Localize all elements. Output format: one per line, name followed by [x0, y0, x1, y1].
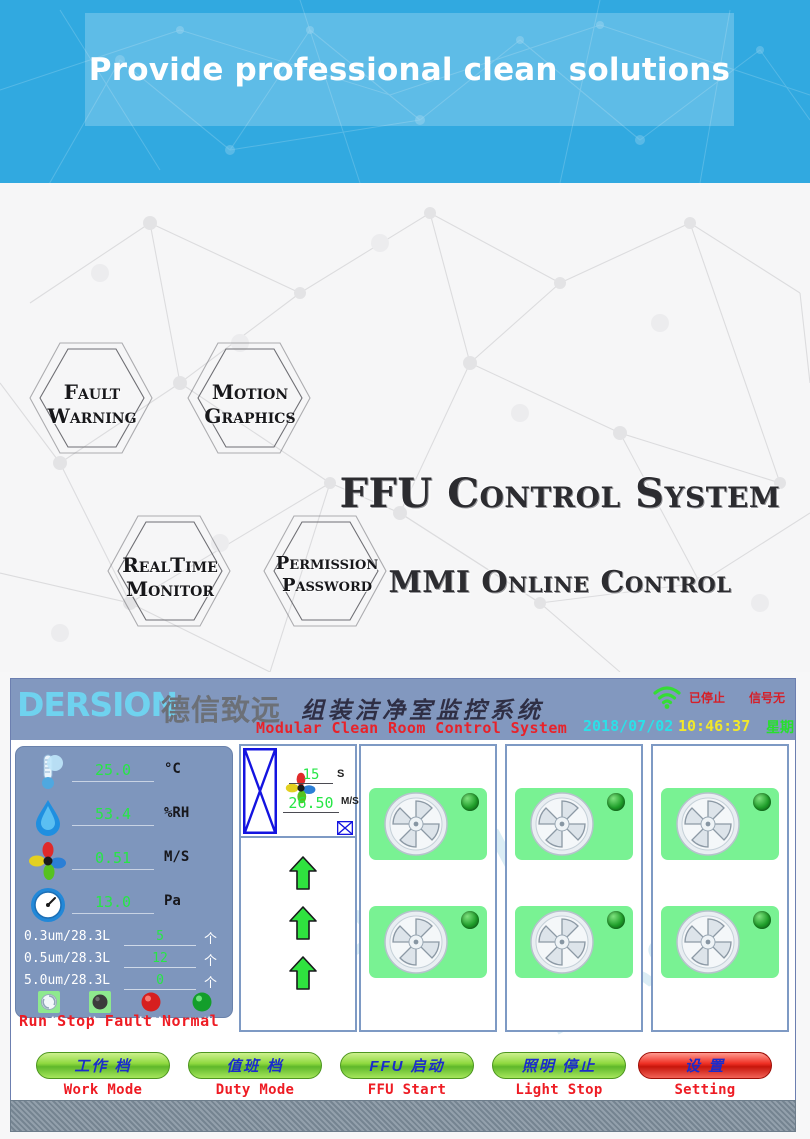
wifi-icon [651, 684, 683, 710]
airflow-up-arrow-icon-2 [289, 906, 317, 940]
ffu-grid [359, 744, 789, 1032]
ffu-column-2 [505, 744, 643, 1032]
particle-value-50um: 0 [124, 973, 196, 990]
airspeed-unit: M/S [164, 849, 224, 865]
setting-label-cn: 设 置 [638, 1052, 772, 1079]
ffu-status-led-5 [607, 911, 625, 929]
ffu-impeller-icon [527, 789, 597, 859]
ffu-unit-3[interactable] [661, 788, 779, 860]
airflow-up-arrow-icon-3 [289, 956, 317, 990]
sensor-row-airspeed: 0.51 M/S [24, 839, 226, 883]
duty-mode-label-en: Duty Mode [181, 1082, 329, 1098]
ffu-unit-4[interactable] [369, 906, 487, 978]
promo-banner: Provide professional clean solutions [0, 0, 810, 183]
banner-headline: Provide professional clean solutions [85, 13, 734, 126]
sensor-row-temperature: 25.0 °C [24, 751, 226, 795]
ffu-start-label-en: FFU Start [333, 1082, 481, 1098]
ffu-impeller-icon [381, 907, 451, 977]
temperature-value: 25.0 [72, 761, 154, 782]
ffu-column-3 [651, 744, 789, 1032]
particle-label-50um: 5.0um/28.3L [24, 973, 110, 988]
hero-section: FFU Control System MMI Online Control Fa… [0, 183, 810, 672]
particle-unit-50um: 个 [204, 972, 217, 991]
ffu-impeller-icon [381, 789, 451, 859]
ffu-impeller-icon [673, 907, 743, 977]
signal-status: 信号无 [749, 689, 785, 706]
hmi-bottom-bezel [10, 1100, 796, 1132]
duty-mode-button[interactable]: 值班 档 Duty Mode [181, 1052, 329, 1098]
duct-top-section: 15 S 26.50 M/S [241, 746, 355, 838]
ffu-unit-2[interactable] [515, 788, 633, 860]
work-mode-button[interactable]: 工作 档 Work Mode [29, 1052, 177, 1098]
pressure-unit: Pa [164, 893, 224, 909]
ffu-status-led-6 [753, 911, 771, 929]
sensor-row-pressure: 13.0 Pa [24, 883, 226, 927]
duct-timer-unit: S [337, 768, 344, 780]
particle-value-03um: 5 [124, 929, 196, 946]
hmi-title-en: Modular Clean Room Control System [256, 719, 567, 737]
ffu-start-button[interactable]: FFU 启动 FFU Start [333, 1052, 481, 1098]
particle-label-05um: 0.5um/28.3L [24, 951, 110, 966]
connection-status: 已停止 [689, 689, 725, 706]
ffu-status-led-2 [607, 793, 625, 811]
status-legend-english: Run Stop Fault Normal [19, 1012, 219, 1030]
x-damper-icon [337, 821, 353, 835]
ffu-impeller-icon [673, 789, 743, 859]
ffu-status-led-3 [753, 793, 771, 811]
fan-propeller-icon [28, 841, 68, 881]
particle-row-05um: 0.5um/28.3L 12 个 [24, 949, 228, 970]
hmi-screen: DERSION 德信致远 组装洁净室监控系统 Modular Clean Roo… [10, 678, 796, 1113]
humidity-unit: %RH [164, 805, 224, 821]
duct-timer-value: 15 [289, 767, 333, 784]
time-display: 10:46:37 [678, 717, 750, 735]
ffu-status-led-1 [461, 793, 479, 811]
humidity-value: 53.4 [72, 805, 154, 826]
setting-label-en: Setting [631, 1082, 779, 1098]
temperature-unit: °C [164, 761, 224, 777]
particle-unit-03um: 个 [204, 928, 217, 947]
ffu-start-label-cn: FFU 启动 [340, 1052, 474, 1079]
particle-value-05um: 12 [124, 951, 196, 968]
particle-unit-05um: 个 [204, 950, 217, 969]
particle-row-50um: 5.0um/28.3L 0 个 [24, 971, 228, 992]
work-mode-label-cn: 工作 档 [36, 1052, 170, 1079]
light-stop-label-en: Light Stop [485, 1082, 633, 1098]
hmi-header: DERSION 德信致远 组装洁净室监控系统 Modular Clean Roo… [11, 679, 795, 740]
ffu-unit-1[interactable] [369, 788, 487, 860]
duct-speed-unit: M/S [341, 796, 359, 807]
sensor-panel: 25.0 °C 53.4 %RH 0.51 [15, 746, 233, 1018]
dersion-logo-en: DERSION [17, 685, 177, 724]
duct-speed-value: 26.50 [283, 794, 339, 813]
light-stop-button[interactable]: 照明 停止 Light Stop [485, 1052, 633, 1098]
run-fan-icon [38, 991, 60, 1013]
light-stop-label-cn: 照明 停止 [492, 1052, 626, 1079]
particle-label-03um: 0.3um/28.3L [24, 929, 110, 944]
pressure-gauge-icon [28, 885, 68, 925]
airflow-up-arrow-icon [289, 856, 317, 890]
fault-led-icon [140, 991, 162, 1013]
weekday-display: 星期一 [766, 717, 795, 740]
ffu-unit-5[interactable] [515, 906, 633, 978]
duty-mode-label-cn: 值班 档 [188, 1052, 322, 1079]
pressure-value: 13.0 [72, 893, 154, 914]
thermometer-icon [28, 753, 68, 793]
particle-row-03um: 0.3um/28.3L 5 个 [24, 927, 228, 948]
hexagon-group [0, 183, 420, 672]
work-mode-label-en: Work Mode [29, 1082, 177, 1098]
date-display: 2018/07/02 [583, 717, 673, 735]
setting-button[interactable]: 设 置 Setting [631, 1052, 779, 1098]
duct-panel: 15 S 26.50 M/S [239, 744, 357, 1032]
normal-led-icon [191, 991, 213, 1013]
ffu-column-1 [359, 744, 497, 1032]
x-valve-icon [243, 748, 277, 834]
hmi-body: DERSION DERSION 25.0 °C 53.4 [11, 740, 795, 1050]
ffu-status-led-4 [461, 911, 479, 929]
ffu-unit-6[interactable] [661, 906, 779, 978]
humidity-drop-icon [28, 797, 68, 837]
ffu-impeller-icon [527, 907, 597, 977]
airspeed-value: 0.51 [72, 849, 154, 870]
stop-disc-icon [89, 991, 111, 1013]
sensor-row-humidity: 53.4 %RH [24, 795, 226, 839]
